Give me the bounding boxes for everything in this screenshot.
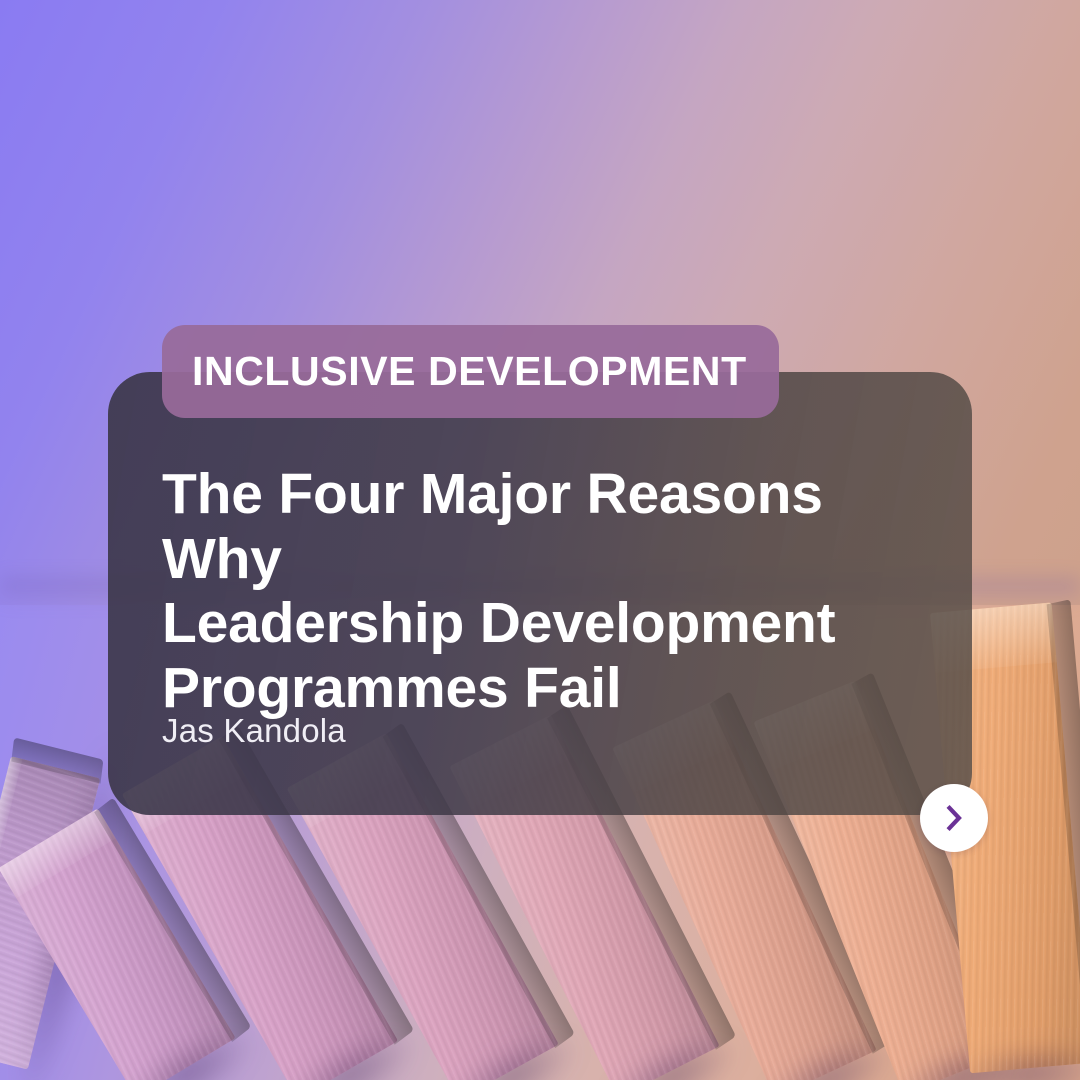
- title-line: Leadership Development: [162, 591, 952, 656]
- page-title: The Four Major Reasons Why Leadership De…: [162, 462, 952, 721]
- category-badge: Inclusive Development: [162, 325, 779, 418]
- next-button[interactable]: [920, 784, 988, 852]
- author-name: Jas Kandola: [162, 712, 346, 750]
- title-line: The Four Major Reasons Why: [162, 462, 952, 591]
- social-card-canvas: Inclusive Development The Four Major Rea…: [0, 0, 1080, 1080]
- category-badge-label: Inclusive Development: [192, 348, 747, 395]
- chevron-right-icon: [939, 803, 969, 833]
